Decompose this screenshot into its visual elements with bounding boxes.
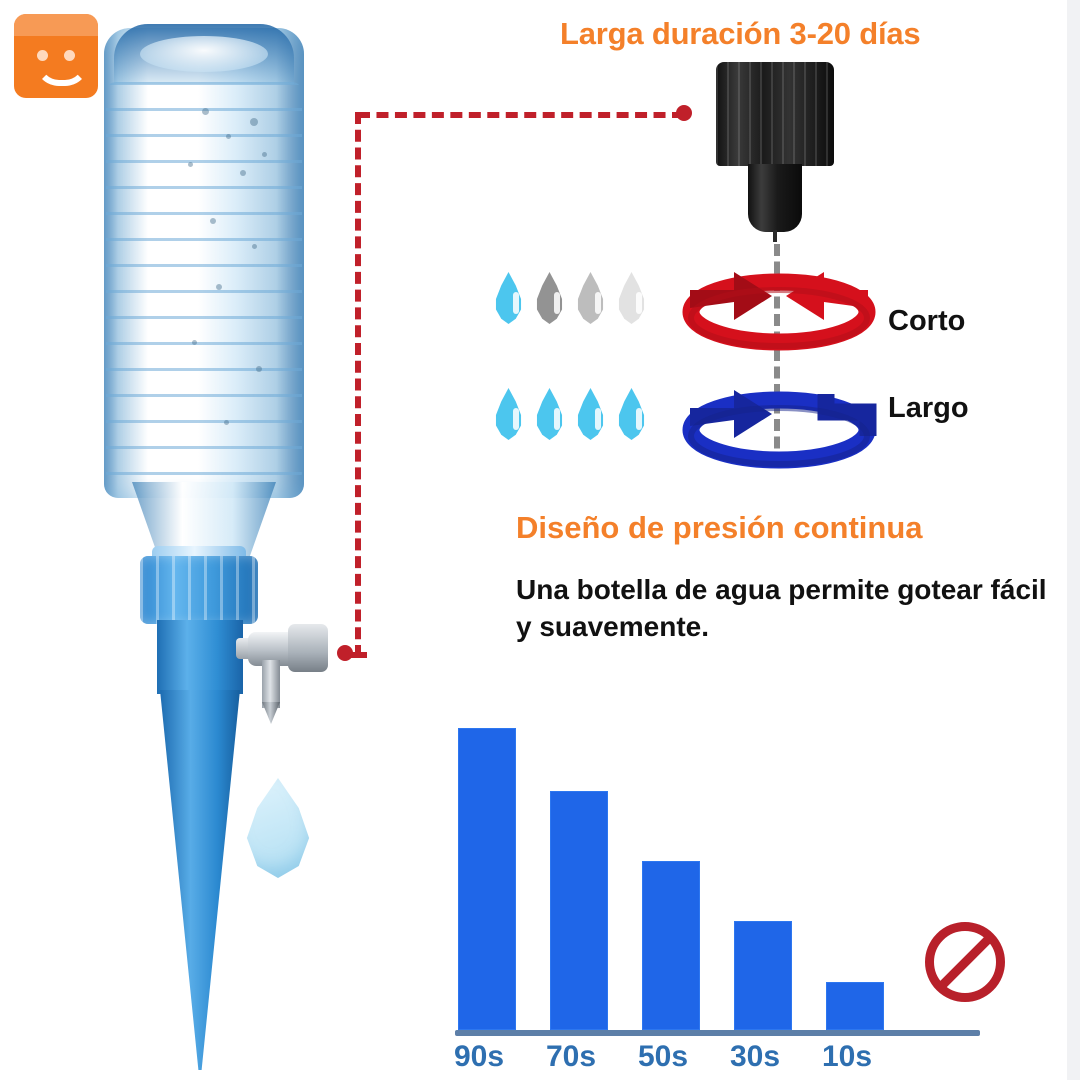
spike-cone: [160, 690, 240, 1070]
drop-gloss: [554, 292, 560, 314]
water-bottle-illustration: [84, 22, 324, 582]
chart-bar: [550, 791, 608, 1030]
water-drop-icon: [533, 388, 566, 440]
drip-duration-bar-chart: 90s70s50s30s10s: [440, 700, 1000, 1080]
headline-duration: Larga duración 3-20 días: [560, 16, 980, 52]
water-drop-icon: [615, 272, 648, 324]
no-entry-icon: [925, 922, 1005, 1002]
knob-stem: [748, 164, 802, 232]
chart-tick-label: 10s: [822, 1040, 872, 1074]
infographic-canvas: Larga duración 3-20 días Corto Largo Dis…: [0, 0, 1080, 1080]
chart-tick-label: 90s: [454, 1040, 504, 1074]
chart-tick-label: 70s: [546, 1040, 596, 1074]
rotation-label-corto: Corto: [888, 305, 965, 338]
smiley-icon: [35, 56, 89, 86]
water-drop-icon: [492, 272, 525, 324]
water-drop-icon: [492, 388, 525, 440]
chart-tick-label: 50s: [638, 1040, 688, 1074]
water-drop-icon: [615, 388, 648, 440]
chart-tick-label: 30s: [730, 1040, 780, 1074]
drop-gloss: [595, 292, 601, 314]
collar-grooves: [140, 556, 258, 624]
section-title-pressure: Diseño de presión continua: [516, 510, 1036, 546]
water-droplet-large-icon: [241, 778, 315, 878]
callout-line-top: [358, 112, 684, 118]
water-drop-icon: [533, 272, 566, 324]
drop-gloss: [636, 292, 642, 314]
spike-collar: [140, 556, 258, 624]
callout-endpoint-bottom: [337, 645, 353, 661]
section-body-pressure: Una botella de agua permite gotear fácil…: [516, 572, 1056, 646]
knob-pin: [773, 230, 777, 242]
drop-gloss: [513, 408, 519, 430]
control-knob-icon: [716, 62, 834, 166]
drop-gloss: [554, 408, 560, 430]
callout-line-vertical: [355, 112, 361, 657]
drop-gloss: [636, 408, 642, 430]
knob-ribs: [716, 62, 834, 166]
chart-bar: [734, 921, 792, 1030]
drop-gloss: [595, 408, 601, 430]
bottle-bubbles: [84, 22, 324, 492]
rotate-left-arrow-icon: [676, 262, 882, 354]
chart-bar: [458, 728, 516, 1030]
water-drop-icon: [574, 388, 607, 440]
rotate-right-arrow-icon: [676, 378, 882, 470]
drop-gloss: [513, 292, 519, 314]
valve-stem: [262, 660, 280, 708]
valve-tip: [262, 702, 280, 724]
callout-endpoint-top: [676, 105, 692, 121]
spike-shoulder: [157, 620, 243, 694]
rotation-label-largo: Largo: [888, 392, 969, 425]
no-entry-slash: [936, 933, 995, 992]
valve-adjust-knob: [288, 624, 328, 672]
chart-bar: [642, 861, 700, 1030]
right-edge-gap: [1062, 0, 1067, 1080]
water-drop-icon: [574, 272, 607, 324]
chart-baseline: [455, 1030, 980, 1036]
chart-bar: [826, 982, 884, 1030]
